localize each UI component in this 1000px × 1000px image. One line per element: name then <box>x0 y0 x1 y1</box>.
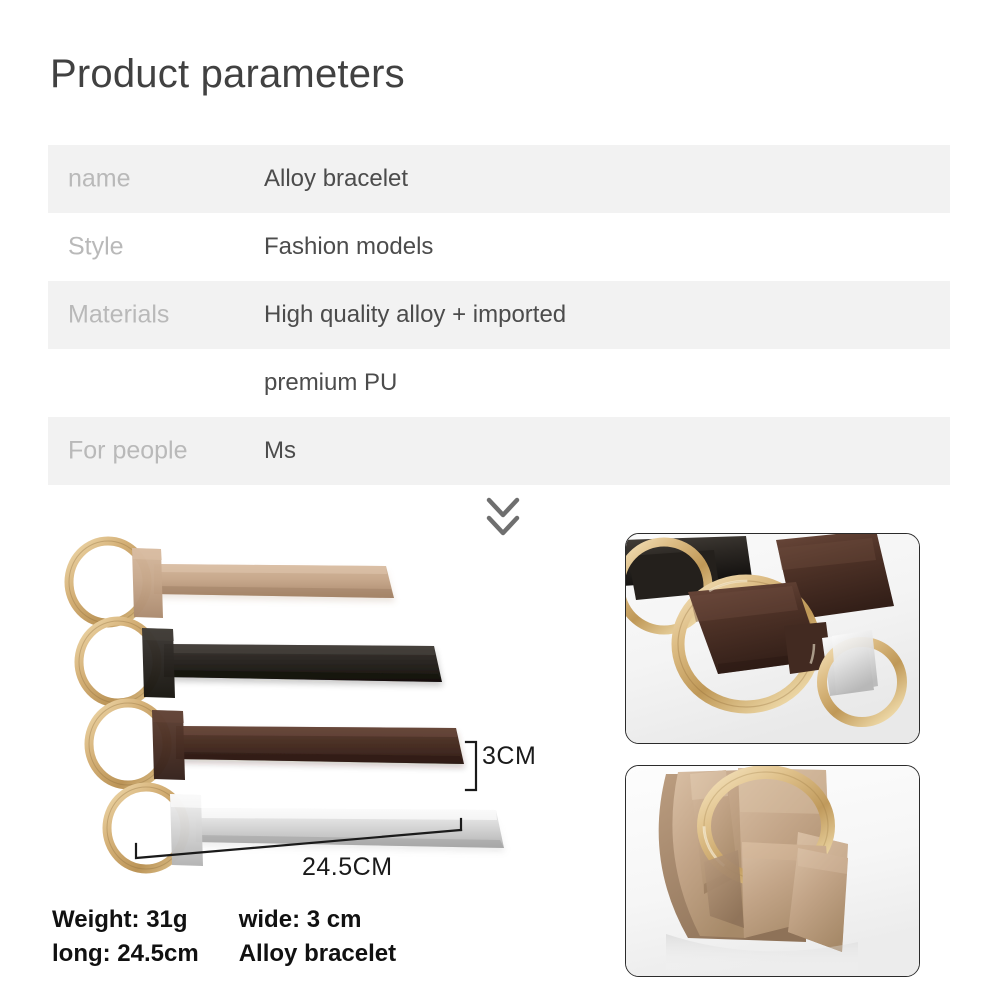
spec-label: For people <box>68 437 188 466</box>
spec-value: High quality alloy + imported <box>264 301 566 329</box>
bracelet-strap-beige <box>154 564 394 598</box>
detail-photo-beige-ring <box>625 765 920 977</box>
weight-line: Weight: 31g <box>52 905 199 935</box>
spec-label: Materials <box>68 301 169 330</box>
bracelet-strap-brown <box>176 726 464 764</box>
spec-value: premium PU <box>264 369 397 397</box>
table-row: Materials High quality alloy + imported <box>48 281 950 349</box>
spec-value: Alloy bracelet <box>264 165 408 193</box>
spec-label: Style <box>68 233 124 262</box>
bracelet-strap-silver <box>196 808 504 848</box>
table-row-continuation: premium PU <box>48 349 950 417</box>
table-row: name Alloy bracelet <box>48 145 950 213</box>
product-parameters-table: name Alloy bracelet Style Fashion models… <box>48 145 950 485</box>
spec-value: Fashion models <box>264 233 433 261</box>
table-row: For people Ms <box>48 417 950 485</box>
detail-photo-brown-ring <box>625 533 920 744</box>
bracelet-strap-black <box>164 644 442 682</box>
width-line: wide: 3 cm <box>239 905 396 935</box>
page-title: Product parameters <box>50 52 405 97</box>
dimension-label-length: 24.5CM <box>302 853 393 882</box>
table-row: Style Fashion models <box>48 213 950 281</box>
dimension-label-height: 3CM <box>482 742 536 771</box>
double-chevron-down-icon <box>482 496 524 540</box>
spec-value: Ms <box>264 437 296 465</box>
length-line: long: 24.5cm <box>52 939 199 969</box>
bottom-spec-column-right: wide: 3 cm Alloy bracelet <box>239 905 396 969</box>
product-photo-group <box>46 536 606 906</box>
bottom-spec-block: Weight: 31g long: 24.5cm wide: 3 cm Allo… <box>52 905 396 969</box>
product-line: Alloy bracelet <box>239 939 396 969</box>
bottom-spec-column-left: Weight: 31g long: 24.5cm <box>52 905 199 969</box>
spec-label: name <box>68 165 131 194</box>
